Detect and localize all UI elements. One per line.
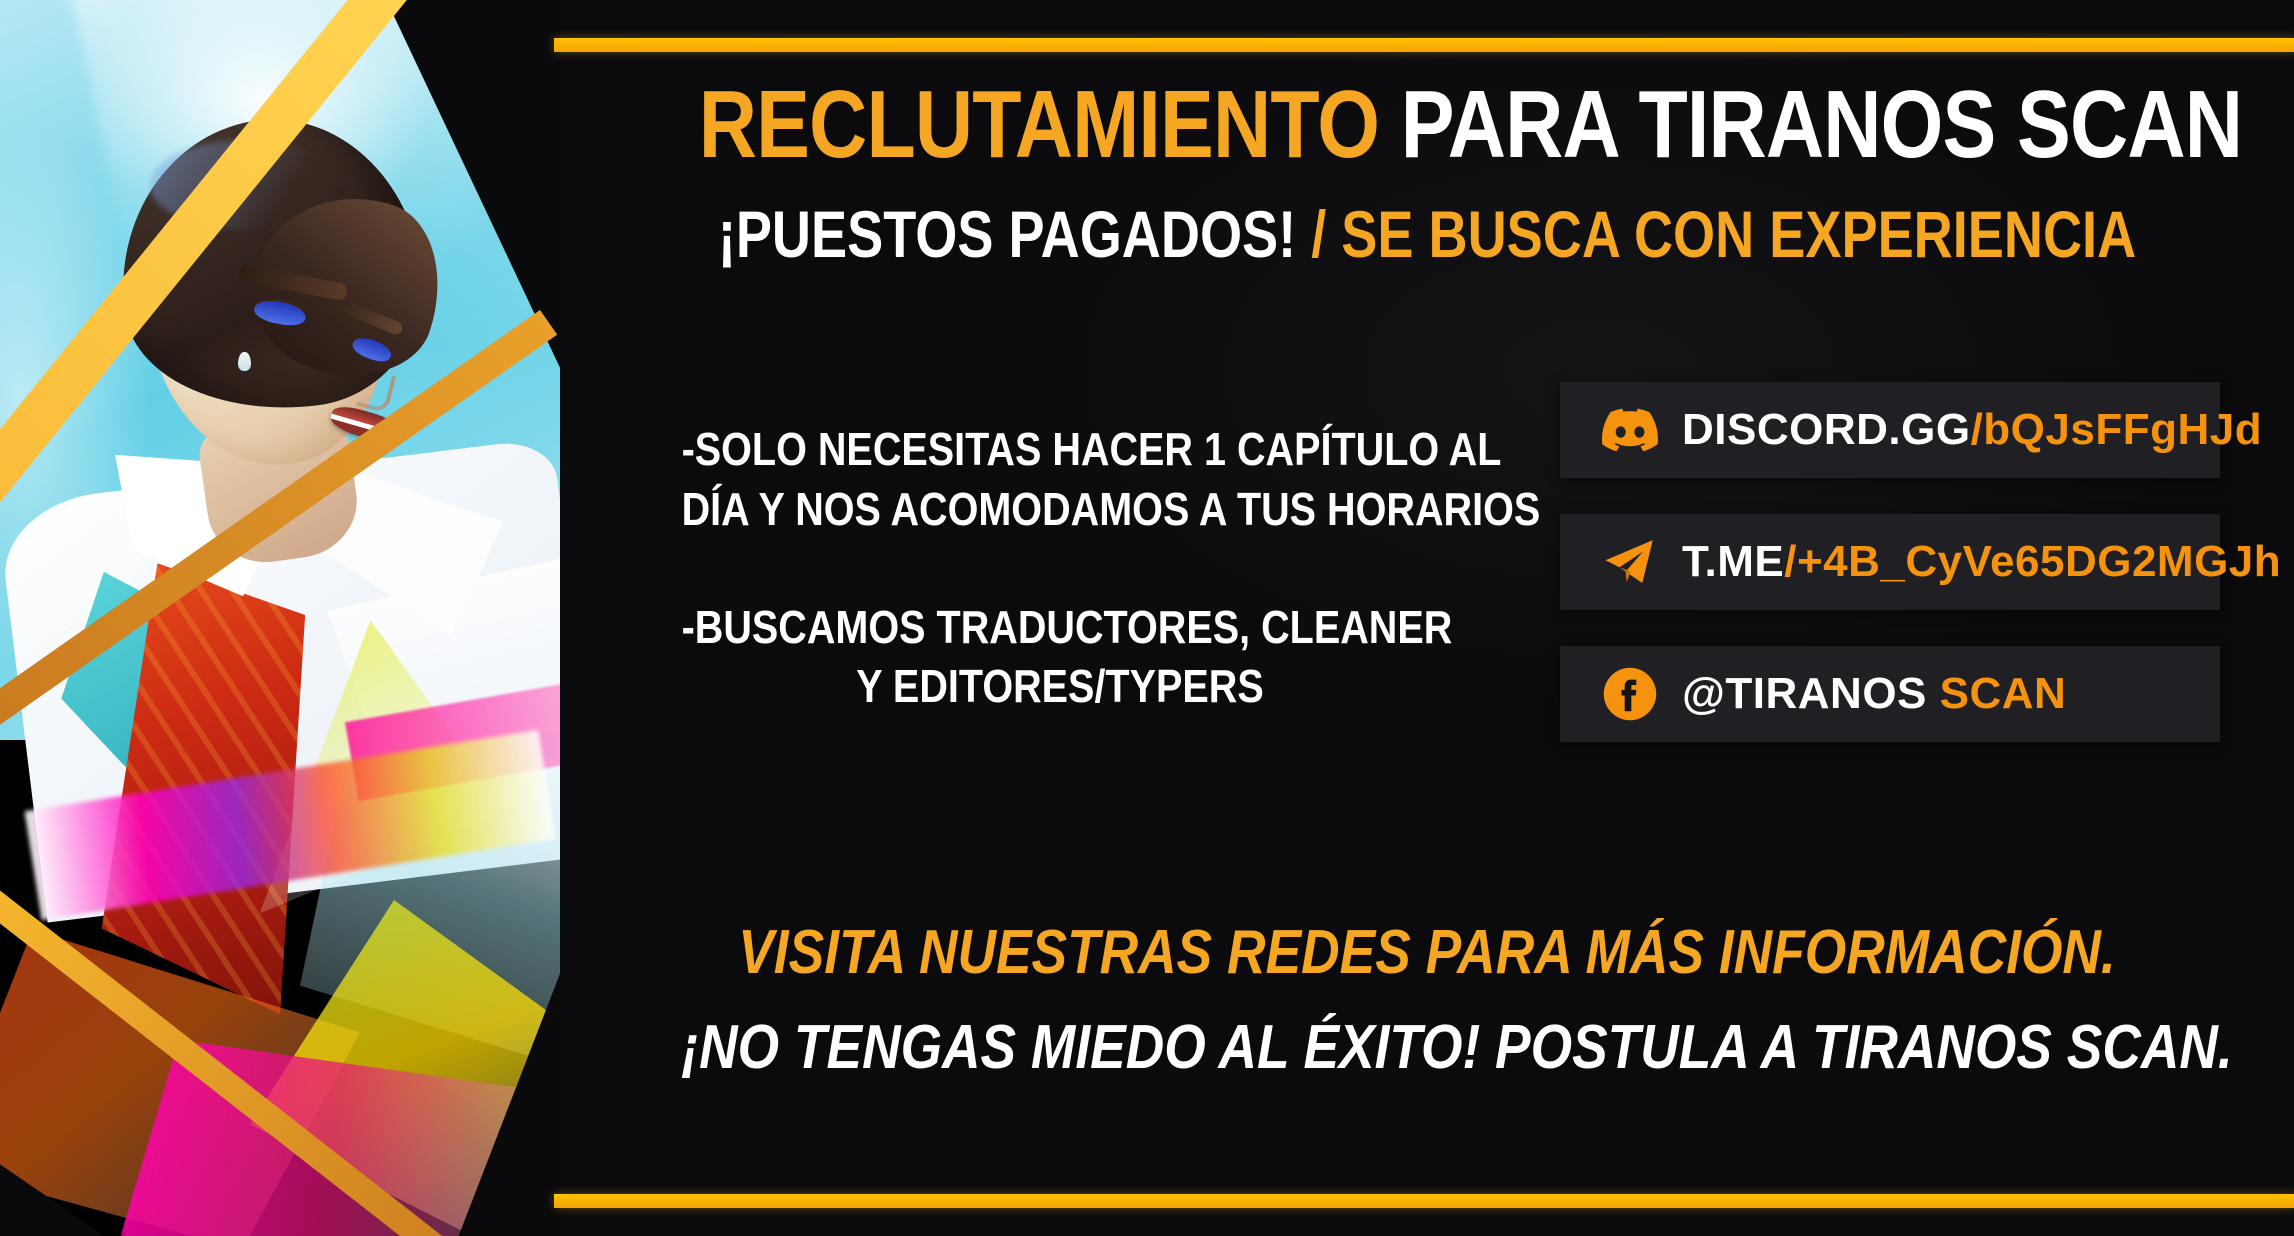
contact-discord-code: /bQJsFFgHJd bbox=[1971, 405, 2263, 454]
contact-discord-label: DISCORD.GG/bQJsFFgHJd bbox=[1682, 405, 2262, 455]
contact-facebook-label: @TIRANOS SCAN bbox=[1682, 669, 2066, 719]
contact-facebook-suffix: SCAN bbox=[1927, 669, 2066, 718]
footer-line-1: VISITA NUESTRAS REDES PARA MÁS INFORMACI… bbox=[681, 920, 2172, 987]
discord-icon bbox=[1602, 402, 1658, 458]
subheadline: ¡PUESTOS PAGADOS! / SE BUSCA CON EXPERIE… bbox=[716, 200, 2138, 269]
contact-telegram-domain: T.ME bbox=[1682, 537, 1784, 586]
contact-discord-domain: DISCORD.GG bbox=[1682, 405, 1971, 454]
footer-text: VISITA NUESTRAS REDES PARA MÁS INFORMACI… bbox=[560, 920, 2294, 1082]
bullet-line: -SOLO NECESITAS HACER 1 CAPÍTULO AL bbox=[682, 420, 1439, 480]
subheadline-white-part: ¡PUESTOS PAGADOS! bbox=[718, 197, 1296, 271]
headline: RECLUTAMIENTO PARA TIRANOS SCAN bbox=[699, 76, 2156, 174]
headline-white-part: PARA TIRANOS SCAN bbox=[1379, 71, 2242, 178]
contact-facebook-handle: @TIRANOS bbox=[1682, 669, 1927, 718]
subheadline-orange-part: / SE BUSCA CON EXPERIENCIA bbox=[1296, 197, 2136, 271]
bullet-line: Y EDITORES/TYPERS bbox=[682, 657, 1439, 717]
recruitment-banner: RECLUTAMIENTO PARA TIRANOS SCAN ¡PUESTOS… bbox=[0, 0, 2294, 1236]
character-artwork bbox=[0, 0, 560, 1236]
bullet-list: -SOLO NECESITAS HACER 1 CAPÍTULO AL DÍA … bbox=[682, 420, 1439, 717]
bullet-line: -BUSCAMOS TRADUCTORES, CLEANER bbox=[682, 598, 1439, 658]
contact-list: DISCORD.GG/bQJsFFgHJd T.ME/+4B_CyVe65DG2… bbox=[1560, 382, 2220, 742]
contact-facebook[interactable]: @TIRANOS SCAN bbox=[1560, 646, 2220, 742]
contact-telegram[interactable]: T.ME/+4B_CyVe65DG2MGJh bbox=[1560, 514, 2220, 610]
artwork-sweat-drop bbox=[238, 352, 251, 371]
gold-bar-bottom bbox=[554, 1194, 2294, 1208]
contact-discord[interactable]: DISCORD.GG/bQJsFFgHJd bbox=[1560, 382, 2220, 478]
bullet-item: -SOLO NECESITAS HACER 1 CAPÍTULO AL DÍA … bbox=[682, 420, 1439, 540]
bullet-line: DÍA Y NOS ACOMODAMOS A TUS HORARIOS bbox=[682, 480, 1439, 540]
headline-orange-part: RECLUTAMIENTO bbox=[699, 71, 1379, 178]
gold-bar-top bbox=[554, 38, 2294, 52]
contact-telegram-label: T.ME/+4B_CyVe65DG2MGJh bbox=[1682, 537, 2281, 587]
contact-telegram-code: /+4B_CyVe65DG2MGJh bbox=[1784, 537, 2281, 586]
facebook-icon bbox=[1602, 666, 1658, 722]
telegram-icon bbox=[1602, 534, 1658, 590]
footer-line-2: ¡NO TENGAS MIEDO AL ÉXITO! POSTULA A TIR… bbox=[681, 1015, 2172, 1082]
content-panel: RECLUTAMIENTO PARA TIRANOS SCAN ¡PUESTOS… bbox=[560, 0, 2294, 1236]
bullet-item: -BUSCAMOS TRADUCTORES, CLEANER Y EDITORE… bbox=[682, 598, 1439, 718]
